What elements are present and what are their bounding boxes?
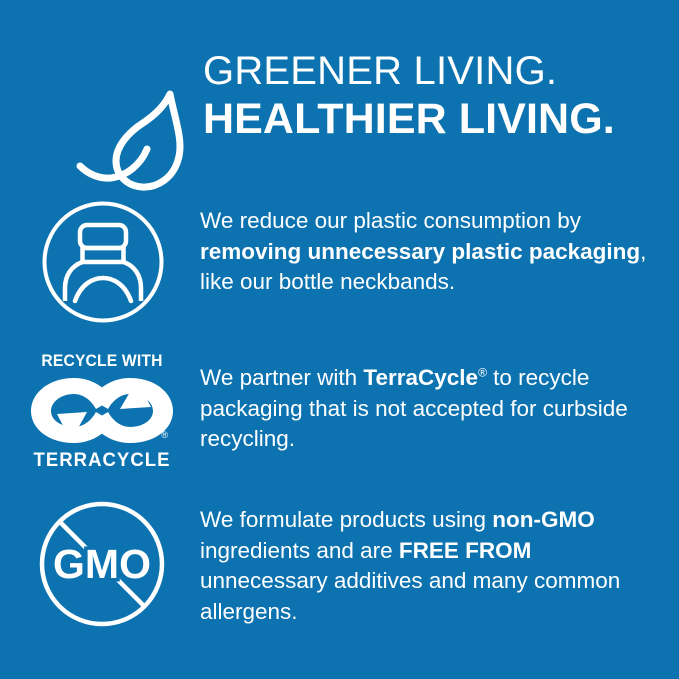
benefit-icon-slot: GMO bbox=[0, 500, 200, 628]
benefit-icon-slot: RECYCLE WITH ® TERRACYCLE bbox=[0, 352, 200, 474]
registered-mark: ® bbox=[161, 431, 168, 440]
benefit-icon-slot bbox=[0, 200, 200, 324]
headline-line-2: HEALTHIER LIVING. bbox=[203, 95, 663, 144]
text-segment: ingredients and are bbox=[200, 538, 399, 563]
greener-living-poster: GREENER LIVING. HEALTHIER LIVING. We red… bbox=[0, 0, 679, 679]
text-segment: We reduce our plastic consumption by bbox=[200, 208, 581, 233]
text-segment-bold: non-GMO bbox=[492, 507, 594, 532]
text-segment-bold: TerraCycle bbox=[363, 365, 478, 390]
poster-header: GREENER LIVING. HEALTHIER LIVING. bbox=[0, 42, 679, 157]
text-segment: We partner with bbox=[200, 365, 363, 390]
recycle-infinity-icon bbox=[27, 370, 177, 450]
text-segment: We formulate products using bbox=[200, 507, 492, 532]
terracycle-bottom-text: TERRACYCLE bbox=[31, 450, 174, 471]
bottle-neckband-icon bbox=[41, 200, 165, 324]
terracycle-logo: RECYCLE WITH ® TERRACYCLE bbox=[27, 352, 177, 474]
terracycle-top-text: RECYCLE WITH bbox=[33, 352, 171, 370]
registered-mark: ® bbox=[478, 366, 487, 380]
no-gmo-icon: GMO bbox=[38, 500, 166, 628]
text-segment-bold: FREE FROM bbox=[399, 538, 532, 563]
benefit-row-terracycle: RECYCLE WITH ® TERRACYCLE bbox=[0, 352, 679, 474]
benefit-text-plastic: We reduce our plastic consumption by rem… bbox=[200, 200, 679, 298]
benefit-row-plastic: We reduce our plastic consumption by rem… bbox=[0, 200, 679, 324]
headline-line-1: GREENER LIVING. bbox=[203, 48, 663, 94]
headline-group: GREENER LIVING. HEALTHIER LIVING. bbox=[203, 48, 663, 144]
benefit-row-gmo: GMO We formulate products using non-GMO … bbox=[0, 500, 679, 628]
benefit-text-terracycle: We partner with TerraCycle® to recycle p… bbox=[200, 352, 679, 455]
benefit-text-gmo: We formulate products using non-GMO ingr… bbox=[200, 500, 679, 627]
gmo-icon-label: GMO bbox=[53, 541, 151, 587]
leaf-icon bbox=[75, 90, 193, 195]
text-segment: unnecessary additives and many common al… bbox=[200, 568, 620, 624]
text-segment-bold: removing unnecessary plastic packaging bbox=[200, 239, 640, 264]
